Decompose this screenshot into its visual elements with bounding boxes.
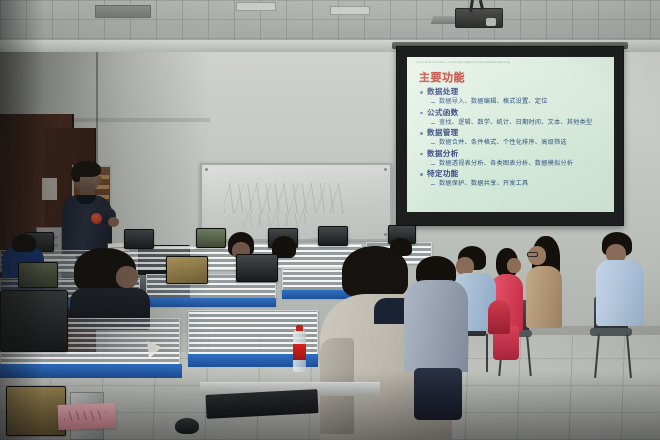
- monitor: [318, 226, 348, 246]
- classroom-scene: Excel Business Skills | Data Management …: [0, 0, 660, 440]
- slide-bullet-list: 数据处理 数据导入、数据编辑、格式设置、定位 公式函数 查找、逻辑、数学、统计、…: [419, 87, 608, 190]
- bullet-heading: 数据管理: [419, 128, 608, 138]
- ceiling-light: [236, 2, 276, 11]
- bullet-subtext: 数据合并、条件格式、个性化排序、高级筛选: [419, 138, 608, 148]
- bullet-heading: 公式函数: [419, 108, 608, 118]
- bullet-heading: 数据分析: [419, 149, 608, 159]
- slide-header: Excel Business Skills | Data Management …: [416, 61, 608, 64]
- bottle-label: [293, 344, 306, 360]
- whiteboard-writing: [224, 183, 344, 213]
- slide-surface: Excel Business Skills | Data Management …: [407, 57, 614, 212]
- handwritten-pink-sticker: [58, 403, 117, 430]
- bullet-subtext: 数据导入、数据编辑、格式设置、定位: [419, 97, 608, 107]
- computer-mouse[interactable]: [175, 418, 199, 434]
- slide-bullet: 公式函数 查找、逻辑、数学、统计、日期时间、文本、其他类型: [419, 108, 608, 128]
- ceiling-vent: [95, 5, 151, 18]
- monitor: [236, 254, 278, 282]
- lower-body: [414, 368, 462, 420]
- bottle-cap: [296, 325, 303, 331]
- projector-lens-icon: [486, 18, 496, 26]
- slide-title: 主要功能: [419, 69, 465, 85]
- slide-bullet: 数据分析 数据透视表分析、各类图表分析、数据模拟分析: [419, 149, 608, 169]
- bullet-subtext: 数据保护、数据共享、开发工具: [419, 179, 608, 189]
- bullet-subtext: 查找、逻辑、数学、统计、日期时间、文本、其他类型: [419, 118, 608, 128]
- slide-bullet: 数据管理 数据合并、条件格式、个性化排序、高级筛选: [419, 128, 608, 148]
- slide-bullet: 数据处理 数据导入、数据编辑、格式设置、定位: [419, 87, 608, 107]
- slide-bullet: 特定功能 数据保护、数据共享、开发工具: [419, 169, 608, 189]
- divider-trim: [0, 364, 182, 378]
- ceiling-projector: [455, 8, 503, 28]
- ceiling-light: [330, 6, 370, 15]
- bullet-heading: 特定功能: [419, 169, 608, 179]
- wall-shading: [0, 52, 210, 352]
- whiteboard-writing: [242, 213, 312, 227]
- projection-screen: Excel Business Skills | Data Management …: [396, 46, 624, 226]
- glasses-icon: [527, 252, 538, 257]
- bullet-heading: 数据处理: [419, 87, 608, 97]
- bullet-subtext: 数据透视表分析、各类图表分析、数据模拟分析: [419, 159, 608, 169]
- coca-cola-bottle: [293, 330, 306, 372]
